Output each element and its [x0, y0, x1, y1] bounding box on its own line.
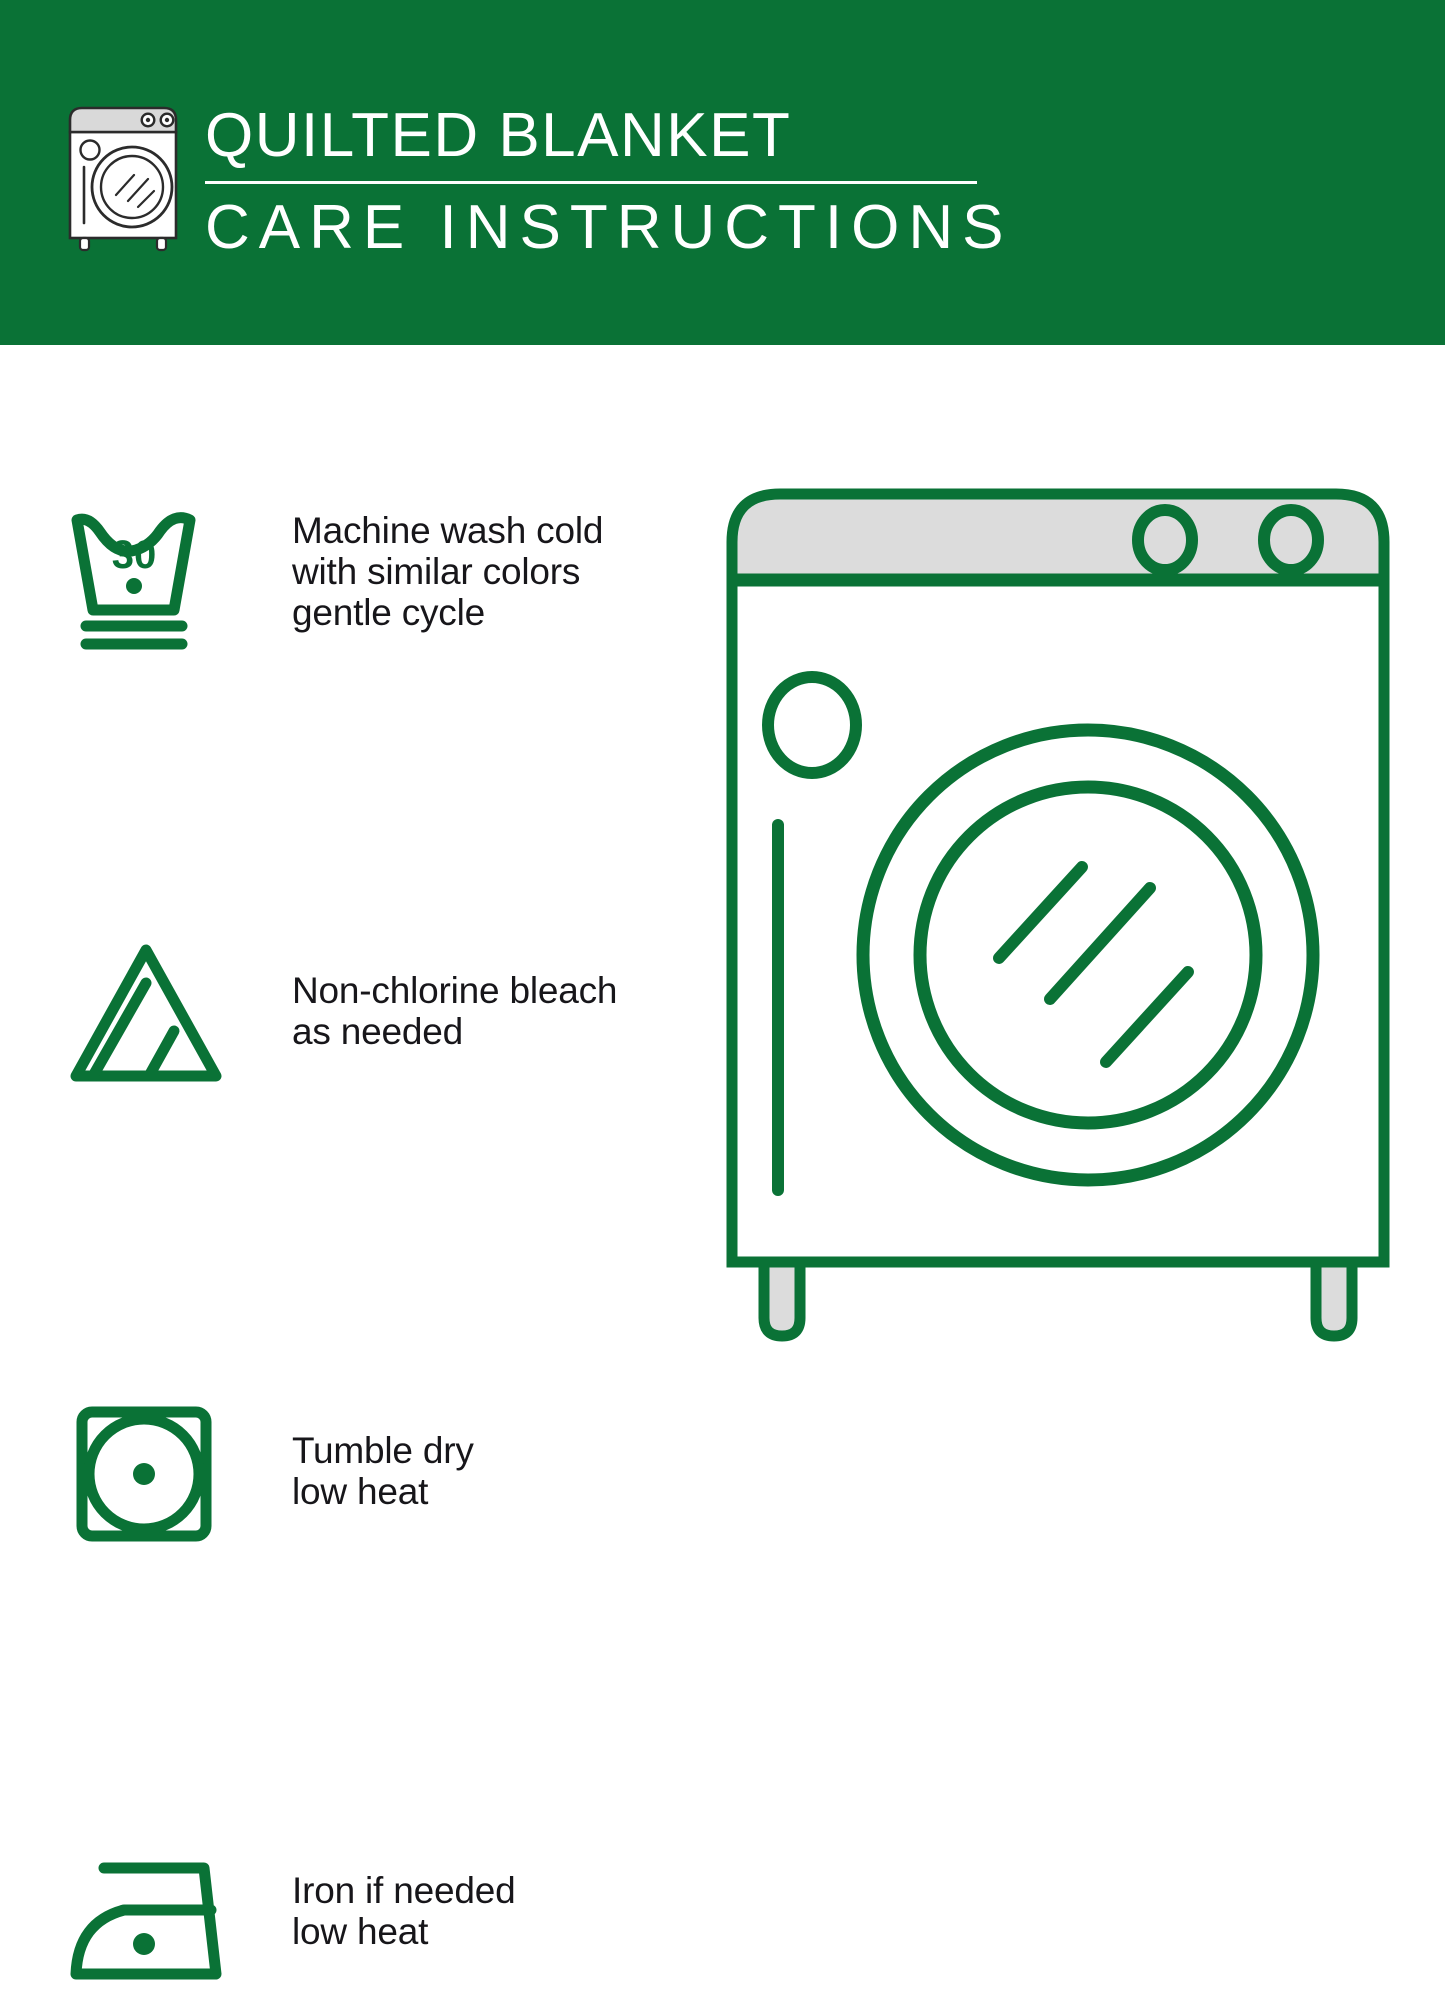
care-instructions-page: QUILTED BLANKET CARE INSTRUCTIONS 30 — [0, 0, 1445, 1445]
care-row-machine-wash: 30 Machine wash cold with similar colors… — [64, 490, 684, 720]
detergent-dispenser — [768, 677, 856, 773]
care-line: Iron if needed — [292, 1870, 684, 1911]
wash-temperature-label: 30 — [112, 533, 157, 577]
knob-left — [1138, 510, 1192, 570]
care-line: with similar colors — [292, 551, 684, 592]
front-load-washing-machine-illustration — [718, 480, 1398, 1360]
knob-right — [1264, 510, 1318, 570]
tumble-dry-low-heat-icon — [64, 1398, 239, 1558]
care-line: low heat — [292, 1911, 684, 1952]
foot-left — [764, 1260, 800, 1336]
care-line: Machine wash cold — [292, 510, 684, 551]
header-text-block: QUILTED BLANKET CARE INSTRUCTIONS — [205, 100, 995, 265]
care-instruction-list: 30 Machine wash cold with similar colors… — [64, 490, 684, 1410]
care-row-iron: Iron if needed low heat — [64, 1180, 684, 1410]
page-title: QUILTED BLANKET — [205, 100, 995, 172]
care-text-iron: Iron if needed low heat — [292, 1870, 684, 1952]
wash-tub-30-gentle-icon: 30 — [64, 498, 239, 658]
care-line: Tumble dry — [292, 1430, 684, 1471]
care-text-machine-wash: Machine wash cold with similar colors ge… — [292, 510, 684, 633]
page-subtitle: CARE INSTRUCTIONS — [205, 191, 995, 265]
care-text-tumble-dry: Tumble dry low heat — [292, 1430, 684, 1512]
header-band: QUILTED BLANKET CARE INSTRUCTIONS — [0, 0, 1445, 345]
washing-machine-icon — [64, 103, 184, 253]
foot-right — [1316, 1260, 1352, 1336]
care-row-tumble-dry: Tumble dry low heat — [64, 950, 684, 1180]
care-line: low heat — [292, 1471, 684, 1512]
iron-low-heat-icon — [64, 1848, 239, 2008]
care-line: gentle cycle — [292, 592, 684, 633]
care-row-bleach: Non-chlorine bleach as needed — [64, 720, 684, 950]
title-divider — [205, 181, 977, 184]
